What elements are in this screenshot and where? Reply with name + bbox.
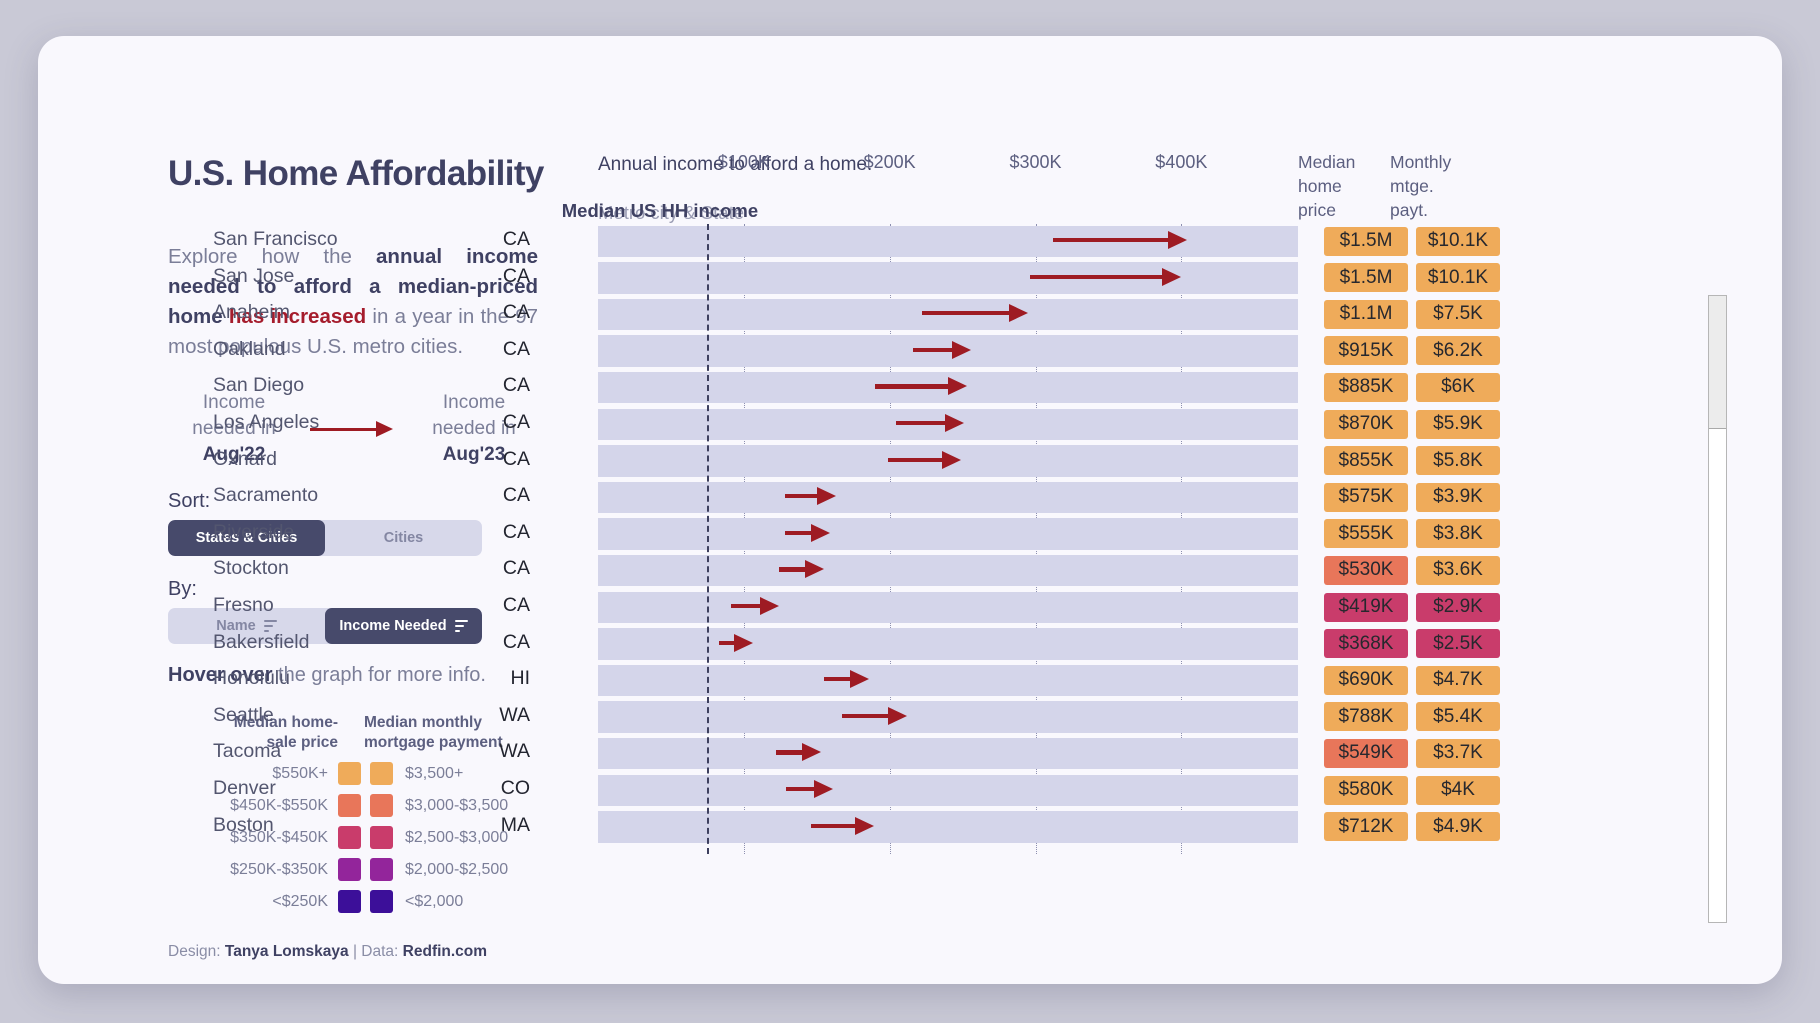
monthly-mortgage-chip: $3.9K — [1416, 483, 1500, 512]
row-city-name: Los Angeles — [213, 411, 473, 434]
row-city-name: Tacoma — [213, 740, 473, 763]
legend-price-label: $250K-$350K — [168, 861, 338, 879]
income-change-arrow — [776, 749, 821, 753]
column-header-median-price-line2: home — [1298, 176, 1342, 196]
median-home-price-chip: $530K — [1324, 556, 1408, 585]
table-row[interactable]: OaklandCA$915K$6.2K — [598, 334, 1728, 369]
table-row[interactable]: Los AngelesCA$870K$5.9K — [598, 407, 1728, 442]
monthly-mortgage-chip: $3.8K — [1416, 519, 1500, 548]
income-change-arrow — [785, 530, 830, 534]
legend-payment-label: $2,000-$2,500 — [393, 861, 508, 879]
row-band — [598, 775, 1298, 806]
legend-price-swatch — [338, 890, 361, 913]
monthly-mortgage-chip: $10.1K — [1416, 263, 1500, 292]
income-change-arrow — [811, 823, 874, 827]
table-row[interactable]: RiversideCA$555K$3.8K — [598, 517, 1728, 552]
row-band — [598, 592, 1298, 623]
row-band — [598, 262, 1298, 293]
income-change-arrow — [824, 676, 869, 680]
income-change-arrow — [1053, 237, 1187, 241]
row-state-code: CA — [486, 374, 530, 397]
axis-tick-label: $100K — [718, 152, 770, 173]
income-change-arrow — [779, 566, 824, 570]
income-change-arrow — [731, 603, 779, 607]
row-city-name: San Diego — [213, 374, 473, 397]
row-state-code: CA — [486, 448, 530, 471]
row-state-code: CO — [486, 777, 530, 800]
monthly-mortgage-chip: $5.4K — [1416, 702, 1500, 731]
row-band — [598, 738, 1298, 769]
row-state-code: WA — [486, 704, 530, 727]
median-income-line — [707, 224, 709, 854]
credit-separator: | — [349, 943, 362, 960]
credit-data-label: Data: — [361, 943, 402, 960]
legend-payment-swatch — [370, 858, 393, 881]
income-change-arrow — [913, 347, 971, 351]
legend-price-swatch — [338, 858, 361, 881]
table-row[interactable]: TacomaWA$549K$3.7K — [598, 736, 1728, 771]
monthly-mortgage-chip: $2.5K — [1416, 629, 1500, 658]
column-header-median-price-line3: price — [1298, 200, 1336, 220]
column-header-monthly-mtg-line3: payt. — [1390, 200, 1428, 220]
row-band — [598, 701, 1298, 732]
row-city-name: Riverside — [213, 521, 473, 544]
monthly-mortgage-chip: $10.1K — [1416, 227, 1500, 256]
income-change-arrow — [785, 493, 836, 497]
credit-designer: Tanya Lomskaya — [225, 943, 349, 960]
median-home-price-chip: $1.1M — [1324, 300, 1408, 329]
income-change-arrow — [888, 457, 961, 461]
legend-row: $250K-$350K$2,000-$2,500 — [168, 858, 540, 881]
median-home-price-chip: $1.5M — [1324, 263, 1408, 292]
row-state-code: MA — [486, 814, 530, 837]
row-city-name: Oxnard — [213, 448, 473, 471]
row-state-code: CA — [486, 228, 530, 251]
page-title: U.S. Home Affordability — [168, 154, 548, 194]
median-home-price-chip: $549K — [1324, 739, 1408, 768]
row-city-name: Denver — [213, 777, 473, 800]
credit-design-label: Design: — [168, 943, 225, 960]
row-state-code: CA — [486, 265, 530, 288]
row-state-code: CA — [486, 301, 530, 324]
row-band — [598, 665, 1298, 696]
table-row[interactable]: San FranciscoCA$1.5M$10.1K — [598, 224, 1728, 259]
table-row[interactable]: FresnoCA$419K$2.9K — [598, 590, 1728, 625]
legend-payment-label: <$2,000 — [393, 893, 463, 911]
median-home-price-chip: $712K — [1324, 812, 1408, 841]
row-band — [598, 628, 1298, 659]
column-header-monthly-mtg-line2: mtge. — [1390, 176, 1434, 196]
table-row[interactable]: OxnardCA$855K$5.8K — [598, 444, 1728, 479]
legend-payment-swatch — [370, 890, 393, 913]
median-home-price-chip: $788K — [1324, 702, 1408, 731]
median-home-price-chip: $885K — [1324, 373, 1408, 402]
row-state-code: CA — [486, 411, 530, 434]
row-band — [598, 555, 1298, 586]
row-city-name: Fresno — [213, 594, 473, 617]
table-row[interactable]: AnaheimCA$1.1M$7.5K — [598, 297, 1728, 332]
monthly-mortgage-chip: $4K — [1416, 776, 1500, 805]
income-change-arrow — [842, 713, 908, 717]
row-state-code: CA — [486, 594, 530, 617]
table-row[interactable]: BakersfieldCA$368K$2.5K — [598, 627, 1728, 662]
monthly-mortgage-chip: $3.7K — [1416, 739, 1500, 768]
monthly-mortgage-chip: $6K — [1416, 373, 1500, 402]
income-change-arrow — [786, 786, 833, 790]
row-state-code: CA — [486, 557, 530, 580]
table-row[interactable]: StocktonCA$530K$3.6K — [598, 553, 1728, 588]
row-city-name: Oakland — [213, 338, 473, 361]
column-header-median-price-line1: Median — [1298, 152, 1355, 172]
row-band — [598, 518, 1298, 549]
row-city-name: Seattle — [213, 704, 473, 727]
legend-price-label: <$250K — [168, 893, 338, 911]
income-change-arrow — [896, 420, 965, 424]
row-state-code: HI — [486, 667, 530, 690]
row-state-code: CA — [486, 521, 530, 544]
row-state-code: WA — [486, 740, 530, 763]
column-header-monthly-mtg: Monthly mtge. payt. — [1390, 150, 1476, 222]
income-change-arrow — [719, 640, 753, 644]
row-state-code: CA — [486, 338, 530, 361]
median-home-price-chip: $690K — [1324, 666, 1408, 695]
row-city-name: San Francisco — [213, 228, 473, 251]
monthly-mortgage-chip: $4.7K — [1416, 666, 1500, 695]
row-city-name: Honolulu — [213, 667, 473, 690]
table-row[interactable]: San JoseCA$1.5M$10.1K — [598, 261, 1728, 296]
monthly-mortgage-chip: $5.9K — [1416, 410, 1500, 439]
row-band — [598, 226, 1298, 257]
legend-row: <$250K<$2,000 — [168, 890, 540, 913]
median-income-label: Median US HH income — [562, 200, 758, 222]
row-band — [598, 482, 1298, 513]
column-header-monthly-mtg-line1: Monthly — [1390, 152, 1451, 172]
monthly-mortgage-chip: $7.5K — [1416, 300, 1500, 329]
table-row[interactable]: DenverCO$580K$4K — [598, 773, 1728, 808]
axis-tick-label: $200K — [864, 152, 916, 173]
column-header-median-price: Median home price — [1298, 150, 1384, 222]
median-home-price-chip: $368K — [1324, 629, 1408, 658]
median-home-price-chip: $1.5M — [1324, 227, 1408, 256]
scrollbar-thumb[interactable] — [1709, 296, 1726, 429]
plot-area: San FranciscoCA$1.5M$10.1KSan JoseCA$1.5… — [598, 224, 1728, 854]
table-row[interactable]: BostonMA$712K$4.9K — [598, 810, 1728, 845]
monthly-mortgage-chip: $5.8K — [1416, 446, 1500, 475]
axis-tick-label: $400K — [1155, 152, 1207, 173]
median-home-price-chip: $870K — [1324, 410, 1408, 439]
row-city-name: San Jose — [213, 265, 473, 288]
median-home-price-chip: $915K — [1324, 336, 1408, 365]
income-change-arrow — [875, 383, 967, 387]
median-home-price-chip: $555K — [1324, 519, 1408, 548]
table-row[interactable]: San DiegoCA$885K$6K — [598, 370, 1728, 405]
row-city-name: Anaheim — [213, 301, 473, 324]
vertical-scrollbar[interactable] — [1708, 295, 1727, 923]
credit-line: Design: Tanya Lomskaya | Data: Redfin.co… — [168, 943, 548, 961]
row-band — [598, 811, 1298, 842]
row-city-name: Boston — [213, 814, 473, 837]
median-home-price-chip: $855K — [1324, 446, 1408, 475]
monthly-mortgage-chip: $2.9K — [1416, 593, 1500, 622]
credit-data-source: Redfin.com — [403, 943, 487, 960]
monthly-mortgage-chip: $3.6K — [1416, 556, 1500, 585]
row-city-name: Sacramento — [213, 484, 473, 507]
median-home-price-chip: $575K — [1324, 483, 1408, 512]
income-change-arrow — [1030, 274, 1182, 278]
axis-tick-label: $300K — [1009, 152, 1061, 173]
table-row[interactable]: HonoluluHI$690K$4.7K — [598, 663, 1728, 698]
row-state-code: CA — [486, 631, 530, 654]
table-row[interactable]: SeattleWA$788K$5.4K — [598, 700, 1728, 735]
row-state-code: CA — [486, 484, 530, 507]
median-home-price-chip: $580K — [1324, 776, 1408, 805]
income-change-arrow — [922, 310, 1028, 314]
monthly-mortgage-chip: $4.9K — [1416, 812, 1500, 841]
median-home-price-chip: $419K — [1324, 593, 1408, 622]
monthly-mortgage-chip: $6.2K — [1416, 336, 1500, 365]
table-row[interactable]: SacramentoCA$575K$3.9K — [598, 480, 1728, 515]
row-city-name: Stockton — [213, 557, 473, 580]
app-card: U.S. Home Affordability Explore how the … — [38, 36, 1782, 984]
row-city-name: Bakersfield — [213, 631, 473, 654]
